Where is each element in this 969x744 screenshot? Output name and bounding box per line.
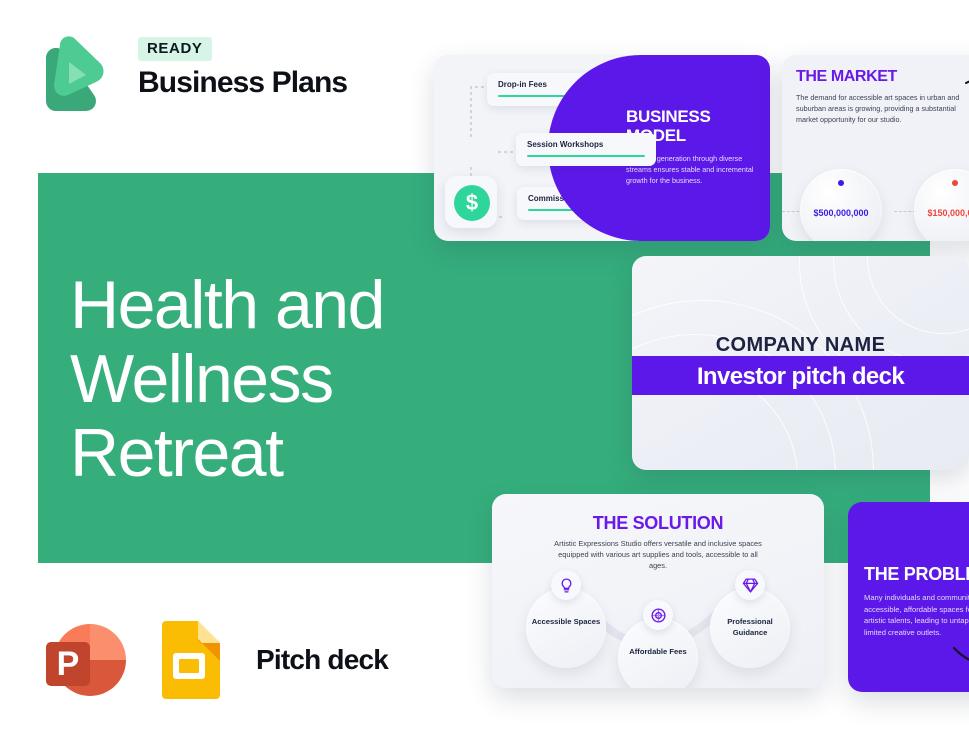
- google-slides-icon: [158, 621, 220, 699]
- problem-title: THE PROBLEM: [864, 564, 969, 585]
- solution-item-label: Accessible Spaces: [526, 616, 606, 627]
- slide-card-market[interactable]: THE MARKET The demand for accessible art…: [782, 55, 969, 241]
- slide-card-company-name[interactable]: COMPANY NAME Investor pitch deck: [632, 256, 969, 470]
- dial-dot-icon: [838, 180, 844, 186]
- swoosh-underline-icon: [952, 642, 969, 676]
- formats-row: P Pitch deck: [44, 615, 388, 705]
- solution-bubble-professional-guidance: Professional Guidance: [710, 588, 790, 668]
- slide-card-problem[interactable]: THE PROBLEM Many individuals and communi…: [848, 502, 969, 692]
- powerpoint-icon: P: [44, 614, 136, 706]
- solution-item-label: Professional Guidance: [710, 616, 790, 638]
- dollar-icon: $: [454, 185, 490, 221]
- hero-title: Health and Wellness Retreat: [70, 268, 500, 490]
- svg-text:P: P: [57, 645, 80, 683]
- market-dial-sam: $150,000,000: [914, 169, 969, 241]
- company-subtitle: Investor pitch deck: [632, 363, 969, 391]
- slide-card-business-model[interactable]: Drop-in Fees Commissioned Art Sales $ BU…: [434, 55, 770, 241]
- solution-item-label: Affordable Fees: [618, 646, 698, 657]
- ready-badge: READY: [138, 37, 212, 61]
- solution-description: Artistic Expressions Studio offers versa…: [552, 538, 764, 571]
- market-dash-mid: [894, 211, 916, 212]
- lightbulb-icon: [551, 570, 581, 600]
- dial-dot-icon: [952, 180, 958, 186]
- play-triangle-logo-icon: [38, 35, 106, 113]
- market-description: The demand for accessible art spaces in …: [796, 92, 969, 125]
- formats-label: Pitch deck: [256, 644, 388, 676]
- market-dial-tam: $500,000,000: [800, 169, 882, 241]
- solution-title: THE SOLUTION: [492, 513, 824, 534]
- coin-circle-icon: [643, 600, 673, 630]
- brand-logo-block: READY Business Plans: [38, 33, 368, 115]
- brand-text-block: READY Business Plans: [138, 37, 347, 100]
- business-model-node: Session Workshops: [516, 133, 656, 166]
- market-value: $150,000,000: [914, 208, 969, 218]
- curved-arrow-icon: [964, 71, 969, 123]
- screenshot-canvas: READY Business Plans Health and Wellness…: [0, 0, 969, 744]
- problem-description: Many individuals and communities lack ac…: [864, 592, 969, 638]
- market-value: $500,000,000: [800, 208, 882, 218]
- company-name-title: COMPANY NAME: [632, 334, 969, 357]
- node-label: Session Workshops: [527, 140, 645, 149]
- node-accent-bar: [527, 155, 645, 157]
- brand-name: Business Plans: [138, 66, 347, 100]
- solution-bubble-accessible-spaces: Accessible Spaces: [526, 588, 606, 668]
- slide-card-solution[interactable]: THE SOLUTION Artistic Expressions Studio…: [492, 494, 824, 688]
- diamond-icon: [735, 570, 765, 600]
- market-title: THE MARKET: [796, 68, 897, 86]
